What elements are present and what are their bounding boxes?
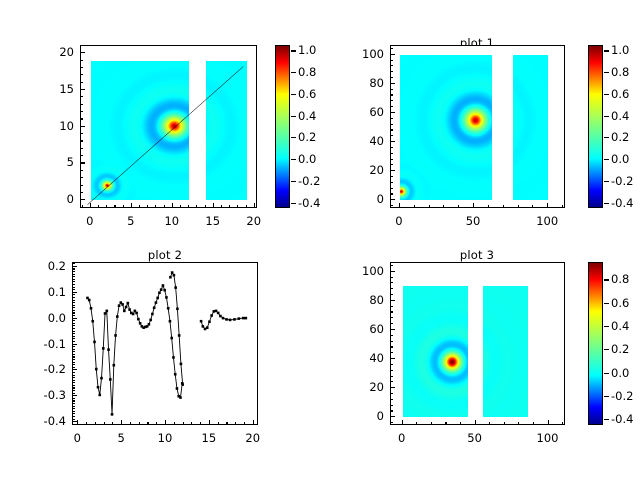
plot-3-yticklabel: 60 xyxy=(338,322,384,336)
plot-1-colorbar-ticklabel: 0.6 xyxy=(611,87,629,101)
x-tick-minor xyxy=(518,422,519,425)
y-tick-major xyxy=(390,141,395,142)
y-tick-minor xyxy=(80,111,83,112)
plot-0-colorbar-tick xyxy=(291,116,296,117)
x-tick-minor xyxy=(106,205,107,208)
y-tick-minor xyxy=(72,300,75,301)
x-tick-major xyxy=(131,203,132,208)
plot-3-colorbar-ticklabel: 0.2 xyxy=(611,342,629,356)
x-tick-minor xyxy=(226,422,227,425)
series-marker xyxy=(102,347,105,350)
plot-0-colorbar-ticklabel: 0.8 xyxy=(298,65,316,79)
y-tick-minor xyxy=(390,118,393,119)
plot-3-yticklabel: 20 xyxy=(338,380,384,394)
plot-1-yticklabel: 80 xyxy=(338,76,384,90)
plot-3-colorbar-ticklabel: -0.4 xyxy=(611,412,633,426)
plot-0-colorbar-tick xyxy=(291,159,296,160)
x-tick-minor xyxy=(429,205,430,208)
series-marker xyxy=(137,318,140,321)
y-tick-minor xyxy=(390,311,393,312)
x-tick-minor xyxy=(139,205,140,208)
y-tick-minor xyxy=(72,263,75,264)
y-tick-minor xyxy=(390,277,393,278)
plot-1-axes xyxy=(390,45,565,208)
plot-0-colorbar-ticklabel: -0.4 xyxy=(298,196,320,210)
plot-3-colorbar-ticklabel: -0.2 xyxy=(611,389,633,403)
plot-3-yticklabel: 0 xyxy=(338,409,384,423)
plot-2-yticklabel: -0.4 xyxy=(20,414,66,428)
series-marker xyxy=(181,383,184,386)
y-tick-minor xyxy=(390,159,393,160)
y-tick-minor xyxy=(390,48,393,49)
y-tick-minor xyxy=(72,294,75,295)
y-tick-major xyxy=(80,126,85,127)
plot-1-xticklabel: 50 xyxy=(443,214,503,228)
y-tick-major xyxy=(390,199,395,200)
y-tick-minor xyxy=(390,176,393,177)
x-tick-minor xyxy=(416,422,417,425)
y-tick-minor xyxy=(80,104,83,105)
series-marker xyxy=(153,306,156,309)
x-tick-major xyxy=(90,203,91,208)
y-tick-minor xyxy=(390,147,393,148)
y-tick-minor xyxy=(72,393,75,394)
y-tick-major xyxy=(80,199,85,200)
y-tick-minor xyxy=(390,294,393,295)
plot-3-yticklabel: 100 xyxy=(338,264,384,278)
series-marker xyxy=(160,288,163,291)
y-tick-major xyxy=(80,162,85,163)
x-tick-minor xyxy=(460,422,461,425)
x-tick-major xyxy=(402,420,403,425)
x-tick-minor xyxy=(180,205,181,208)
series-line xyxy=(87,286,182,415)
plot-0-yticklabel: 0 xyxy=(28,192,74,206)
y-tick-minor xyxy=(80,45,83,46)
y-tick-minor xyxy=(390,399,393,400)
series-marker xyxy=(225,318,228,321)
plot-3-xticklabel: 0 xyxy=(372,431,432,445)
y-tick-minor xyxy=(72,312,75,313)
plot-3-colorbar-tick xyxy=(604,396,609,397)
y-tick-minor xyxy=(390,89,393,90)
y-tick-minor xyxy=(390,346,393,347)
plot-0-yticklabel: 15 xyxy=(28,82,74,96)
plot-1-colorbar-ticklabel: -0.2 xyxy=(611,174,633,188)
y-tick-major xyxy=(390,300,395,301)
x-tick-minor xyxy=(174,422,175,425)
series-marker xyxy=(180,363,183,366)
plot-3-yticklabel: 40 xyxy=(338,351,384,365)
plot-3-colorbar-ticklabel: 0.4 xyxy=(611,319,629,333)
series-marker xyxy=(158,291,161,294)
plot-0-yticklabel: 20 xyxy=(28,45,74,59)
plot-1-colorbar-tick xyxy=(604,72,609,73)
y-tick-minor xyxy=(72,289,75,290)
series-marker xyxy=(173,274,176,277)
plot-1-colorbar-tick xyxy=(604,50,609,51)
series-marker xyxy=(116,315,119,318)
plot-0-colorbar-tick xyxy=(291,50,296,51)
y-tick-minor xyxy=(72,328,75,329)
series-marker xyxy=(200,320,203,323)
x-tick-minor xyxy=(156,422,157,425)
x-tick-minor xyxy=(95,422,96,425)
plot-0-colorbar-tick xyxy=(291,72,296,73)
x-tick-minor xyxy=(504,422,505,425)
plot-2-xticklabel: 20 xyxy=(223,431,283,445)
series-marker xyxy=(233,318,236,321)
x-tick-minor xyxy=(114,205,115,208)
y-tick-minor xyxy=(390,100,393,101)
plot-1-colorbar-tick xyxy=(604,94,609,95)
plot-2-yticklabel: 0.0 xyxy=(20,311,66,325)
series-marker xyxy=(179,396,182,399)
y-tick-minor xyxy=(390,193,393,194)
y-tick-minor xyxy=(390,153,393,154)
y-tick-minor xyxy=(80,60,83,61)
plot-3-colorbar-ticklabel: 0.6 xyxy=(611,296,629,310)
series-marker xyxy=(100,377,103,380)
y-tick-minor xyxy=(80,140,83,141)
series-marker xyxy=(163,289,166,292)
x-tick-minor xyxy=(205,205,206,208)
plot-0-colorbar-ticklabel: 0.6 xyxy=(298,87,316,101)
x-tick-minor xyxy=(237,205,238,208)
y-tick-minor xyxy=(80,133,83,134)
series-marker xyxy=(97,386,100,389)
plot-1-colorbar-tick xyxy=(604,116,609,117)
y-tick-major xyxy=(72,266,77,267)
y-tick-major xyxy=(390,416,395,417)
y-tick-minor xyxy=(72,382,75,383)
x-tick-major xyxy=(172,203,173,208)
x-tick-minor xyxy=(196,205,197,208)
series-marker xyxy=(202,325,205,328)
y-tick-minor xyxy=(72,331,75,332)
plot-1-colorbar-tick xyxy=(604,159,609,160)
y-tick-minor xyxy=(390,60,393,61)
y-tick-minor xyxy=(72,279,75,280)
y-tick-minor xyxy=(72,284,75,285)
y-tick-minor xyxy=(72,320,75,321)
plot-2-yticklabel: 0.2 xyxy=(20,259,66,273)
plot-1-colorbar-ticklabel: -0.4 xyxy=(611,196,633,210)
y-tick-major xyxy=(390,54,395,55)
y-tick-minor xyxy=(80,67,83,68)
y-tick-minor xyxy=(390,376,393,377)
plot-3-colorbar-tick xyxy=(604,349,609,350)
x-tick-major xyxy=(209,420,210,425)
y-tick-minor xyxy=(72,408,75,409)
y-tick-minor xyxy=(72,411,75,412)
series-marker xyxy=(104,312,107,315)
y-tick-minor xyxy=(72,287,75,288)
plot-3-colorbar xyxy=(588,262,603,425)
y-tick-minor xyxy=(390,164,393,165)
y-tick-minor xyxy=(80,148,83,149)
y-tick-minor xyxy=(72,372,75,373)
series-marker xyxy=(156,297,159,300)
y-tick-minor xyxy=(72,323,75,324)
series-marker xyxy=(91,320,94,323)
series-marker xyxy=(127,302,130,305)
series-marker xyxy=(222,317,225,320)
x-tick-minor xyxy=(164,205,165,208)
y-tick-minor xyxy=(72,315,75,316)
plot-1-colorbar-tick xyxy=(604,181,609,182)
y-tick-minor xyxy=(72,302,75,303)
series-marker xyxy=(169,276,172,279)
y-tick-major xyxy=(72,395,77,396)
x-tick-minor xyxy=(200,422,201,425)
plot-0-colorbar-gradient xyxy=(276,46,289,207)
y-tick-minor xyxy=(80,96,83,97)
plot-1-colorbar-ticklabel: 0.8 xyxy=(611,65,629,79)
plot-0-colorbar-tick xyxy=(291,94,296,95)
y-tick-minor xyxy=(72,362,75,363)
y-tick-major xyxy=(390,83,395,84)
y-tick-minor xyxy=(72,341,75,342)
y-tick-minor xyxy=(72,281,75,282)
y-tick-minor xyxy=(390,410,393,411)
plot-1-colorbar-tick xyxy=(604,203,609,204)
series-marker xyxy=(139,322,142,325)
y-tick-minor xyxy=(72,387,75,388)
x-tick-minor xyxy=(104,422,105,425)
series-marker xyxy=(165,296,168,299)
plot-1-colorbar xyxy=(588,45,603,208)
series-marker xyxy=(170,337,173,340)
y-tick-minor xyxy=(72,274,75,275)
plot-2-yticklabel: 0.1 xyxy=(20,285,66,299)
plot-2-title: plot 2 xyxy=(85,248,245,262)
y-tick-minor xyxy=(72,310,75,311)
series-marker xyxy=(151,313,154,316)
x-tick-minor xyxy=(221,205,222,208)
y-tick-minor xyxy=(80,118,83,119)
y-tick-minor xyxy=(390,306,393,307)
series-marker xyxy=(206,326,209,329)
y-tick-major xyxy=(390,271,395,272)
y-tick-minor xyxy=(72,356,75,357)
y-tick-minor xyxy=(390,341,393,342)
plot-3-colorbar-tick xyxy=(604,326,609,327)
y-tick-minor xyxy=(72,305,75,306)
x-tick-minor xyxy=(244,422,245,425)
y-tick-minor xyxy=(72,359,75,360)
plot-3-colorbar-ticklabel: 0.8 xyxy=(611,272,629,286)
series-marker xyxy=(107,348,110,351)
series-marker xyxy=(242,317,245,320)
x-tick-major xyxy=(77,420,78,425)
plot-2-series-group xyxy=(73,263,258,425)
plot-3-title: plot 3 xyxy=(397,248,557,262)
figure-canvas: 0510152005101520-0.4-0.20.00.20.40.60.81… xyxy=(0,0,640,480)
x-tick-minor xyxy=(562,205,563,208)
plot-3-colorbar-ticklabel: 0.0 xyxy=(611,366,629,380)
series-marker xyxy=(123,310,126,313)
plot-1-colorbar-ticklabel: 0.4 xyxy=(611,109,629,123)
y-tick-major xyxy=(390,387,395,388)
x-tick-minor xyxy=(431,422,432,425)
plot-1-xticklabel: 100 xyxy=(517,214,577,228)
x-tick-minor xyxy=(218,422,219,425)
plot-0-colorbar-tick xyxy=(291,203,296,204)
x-tick-major xyxy=(165,420,166,425)
y-tick-minor xyxy=(390,65,393,66)
series-marker xyxy=(217,312,220,315)
series-marker xyxy=(132,313,135,316)
series-marker xyxy=(245,317,248,320)
y-tick-minor xyxy=(72,268,75,269)
y-tick-major xyxy=(72,318,77,319)
x-tick-minor xyxy=(112,422,113,425)
series-marker xyxy=(88,299,91,302)
x-tick-minor xyxy=(98,205,99,208)
y-tick-major xyxy=(390,170,395,171)
plot-0-colorbar-ticklabel: 0.4 xyxy=(298,109,316,123)
y-tick-minor xyxy=(72,346,75,347)
y-tick-minor xyxy=(390,124,393,125)
plot-3-colorbar-tick xyxy=(604,303,609,304)
y-tick-minor xyxy=(72,271,75,272)
plot-3-colorbar-gradient xyxy=(589,263,602,424)
x-tick-major xyxy=(121,420,122,425)
series-marker xyxy=(128,308,131,311)
y-tick-minor xyxy=(72,406,75,407)
x-tick-minor xyxy=(139,422,140,425)
y-tick-minor xyxy=(80,207,83,208)
y-tick-major xyxy=(72,369,77,370)
x-tick-major xyxy=(399,203,400,208)
y-tick-minor xyxy=(72,416,75,417)
y-tick-minor xyxy=(72,325,75,326)
y-tick-minor xyxy=(390,77,393,78)
series-marker xyxy=(176,308,179,311)
y-tick-major xyxy=(72,421,77,422)
series-marker xyxy=(169,320,172,323)
x-tick-minor xyxy=(130,422,131,425)
series-marker xyxy=(171,271,174,274)
y-tick-minor xyxy=(390,405,393,406)
x-tick-major xyxy=(253,420,254,425)
x-tick-minor xyxy=(458,205,459,208)
y-tick-minor xyxy=(72,398,75,399)
y-tick-minor xyxy=(72,307,75,308)
x-tick-minor xyxy=(235,422,236,425)
plot-2-axes xyxy=(72,262,258,425)
x-tick-major xyxy=(254,203,255,208)
plot-1-yticklabel: 0 xyxy=(338,192,384,206)
y-tick-minor xyxy=(72,351,75,352)
x-tick-major xyxy=(475,420,476,425)
plot-0-image xyxy=(81,46,257,208)
plot-2-yticklabel: -0.3 xyxy=(20,388,66,402)
plot-3-xticklabel: 100 xyxy=(518,431,578,445)
x-tick-minor xyxy=(443,205,444,208)
series-marker xyxy=(98,394,101,397)
series-line xyxy=(170,273,182,385)
y-tick-minor xyxy=(72,349,75,350)
plot-0-colorbar-ticklabel: 1.0 xyxy=(298,43,316,57)
y-tick-minor xyxy=(390,129,393,130)
x-tick-minor xyxy=(246,205,247,208)
series-marker xyxy=(118,304,121,307)
y-tick-minor xyxy=(390,335,393,336)
plot-1-colorbar-ticklabel: 0.0 xyxy=(611,152,629,166)
y-tick-minor xyxy=(72,333,75,334)
y-tick-minor xyxy=(390,393,393,394)
y-tick-major xyxy=(390,112,395,113)
series-marker xyxy=(167,307,170,310)
series-marker xyxy=(114,334,117,337)
x-tick-minor xyxy=(147,205,148,208)
y-tick-minor xyxy=(390,323,393,324)
y-tick-minor xyxy=(80,74,83,75)
series-marker xyxy=(178,334,181,337)
x-tick-major xyxy=(473,203,474,208)
x-tick-minor xyxy=(562,422,563,425)
plot-1-colorbar-ticklabel: 0.2 xyxy=(611,130,629,144)
x-tick-minor xyxy=(86,422,87,425)
x-tick-minor xyxy=(155,205,156,208)
x-tick-minor xyxy=(188,205,189,208)
y-tick-major xyxy=(390,358,395,359)
series-marker xyxy=(208,320,211,323)
plot-0-yticklabel: 5 xyxy=(28,155,74,169)
y-tick-minor xyxy=(72,336,75,337)
y-tick-minor xyxy=(72,354,75,355)
y-tick-minor xyxy=(72,403,75,404)
plot-0-colorbar-ticklabel: -0.2 xyxy=(298,174,320,188)
y-tick-minor xyxy=(390,352,393,353)
plot-1-colorbar-tick xyxy=(604,137,609,138)
plot-0-colorbar xyxy=(275,45,290,208)
series-marker xyxy=(172,356,175,359)
y-tick-minor xyxy=(72,413,75,414)
plot-3-colorbar-tick xyxy=(604,419,609,420)
x-tick-minor xyxy=(488,205,489,208)
y-tick-minor xyxy=(390,205,393,206)
plot-0-xticklabel: 20 xyxy=(224,214,284,228)
plot-3-yticklabel: 80 xyxy=(338,293,384,307)
series-marker xyxy=(176,387,179,390)
y-tick-minor xyxy=(390,370,393,371)
plot-1-colorbar-gradient xyxy=(589,46,602,207)
series-marker xyxy=(95,368,98,371)
y-tick-major xyxy=(72,344,77,345)
y-tick-minor xyxy=(72,367,75,368)
series-marker xyxy=(105,310,108,313)
x-tick-minor xyxy=(489,422,490,425)
y-tick-minor xyxy=(390,288,393,289)
x-tick-major xyxy=(213,203,214,208)
plot-1-yticklabel: 60 xyxy=(338,105,384,119)
y-tick-major xyxy=(80,52,85,53)
y-tick-minor xyxy=(390,282,393,283)
x-tick-minor xyxy=(445,422,446,425)
series-marker xyxy=(155,301,158,304)
x-tick-minor xyxy=(414,205,415,208)
series-marker xyxy=(148,323,151,326)
plot-1-yticklabel: 100 xyxy=(338,47,384,61)
x-tick-minor xyxy=(533,422,534,425)
y-tick-major xyxy=(390,329,395,330)
x-tick-minor xyxy=(147,422,148,425)
x-tick-minor xyxy=(532,205,533,208)
series-marker xyxy=(174,373,177,376)
